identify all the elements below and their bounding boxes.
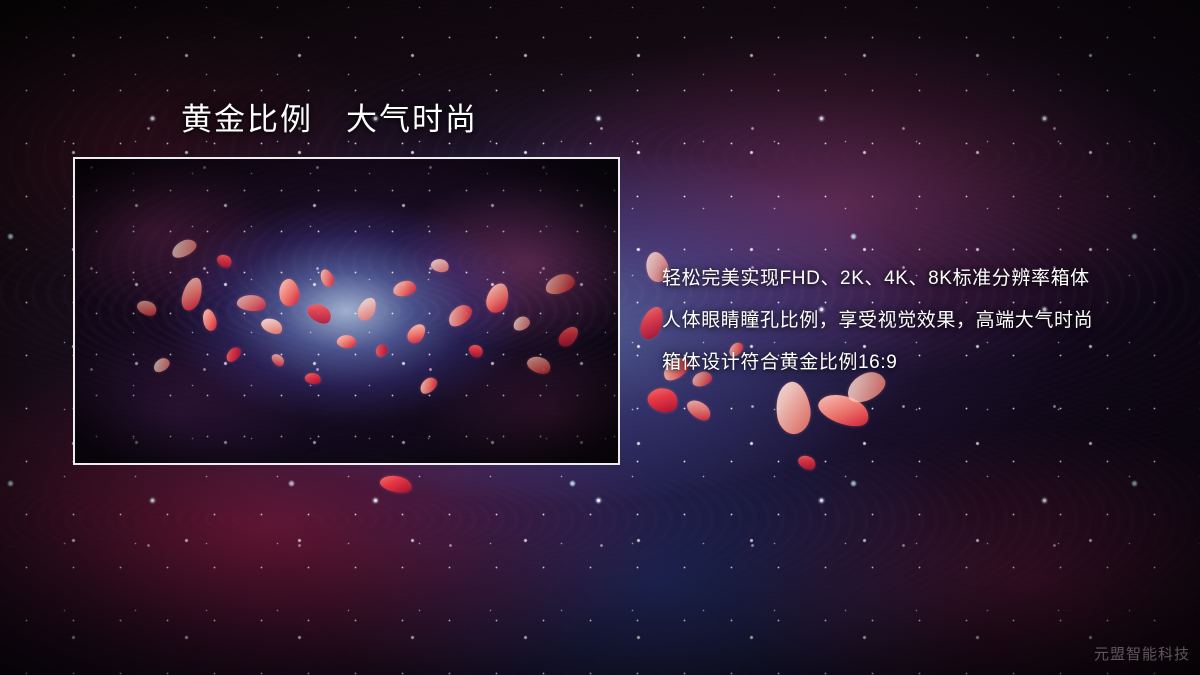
feature-line-2: 人体眼睛瞳孔比例，享受视觉效果，高端大气时尚 — [662, 300, 1182, 342]
framed-image-content — [75, 159, 618, 463]
feature-line-3: 箱体设计符合黄金比例16:9 — [662, 342, 1182, 384]
feature-description-block: 轻松完美实现FHD、2K、4K、8K标准分辨率箱体 人体眼睛瞳孔比例，享受视觉效… — [662, 258, 1182, 384]
presentation-slide: 黄金比例 大气时尚 轻松完美实现FHD、2K、4K、8K标准分辨率箱体 人体眼睛… — [0, 0, 1200, 675]
feature-line-1: 轻松完美实现FHD、2K、4K、8K标准分辨率箱体 — [662, 258, 1182, 300]
golden-ratio-image-frame — [73, 157, 620, 465]
company-watermark: 元盟智能科技 — [1094, 645, 1190, 665]
page-title: 黄金比例 大气时尚 — [181, 101, 478, 139]
frame-vignette — [75, 159, 618, 463]
